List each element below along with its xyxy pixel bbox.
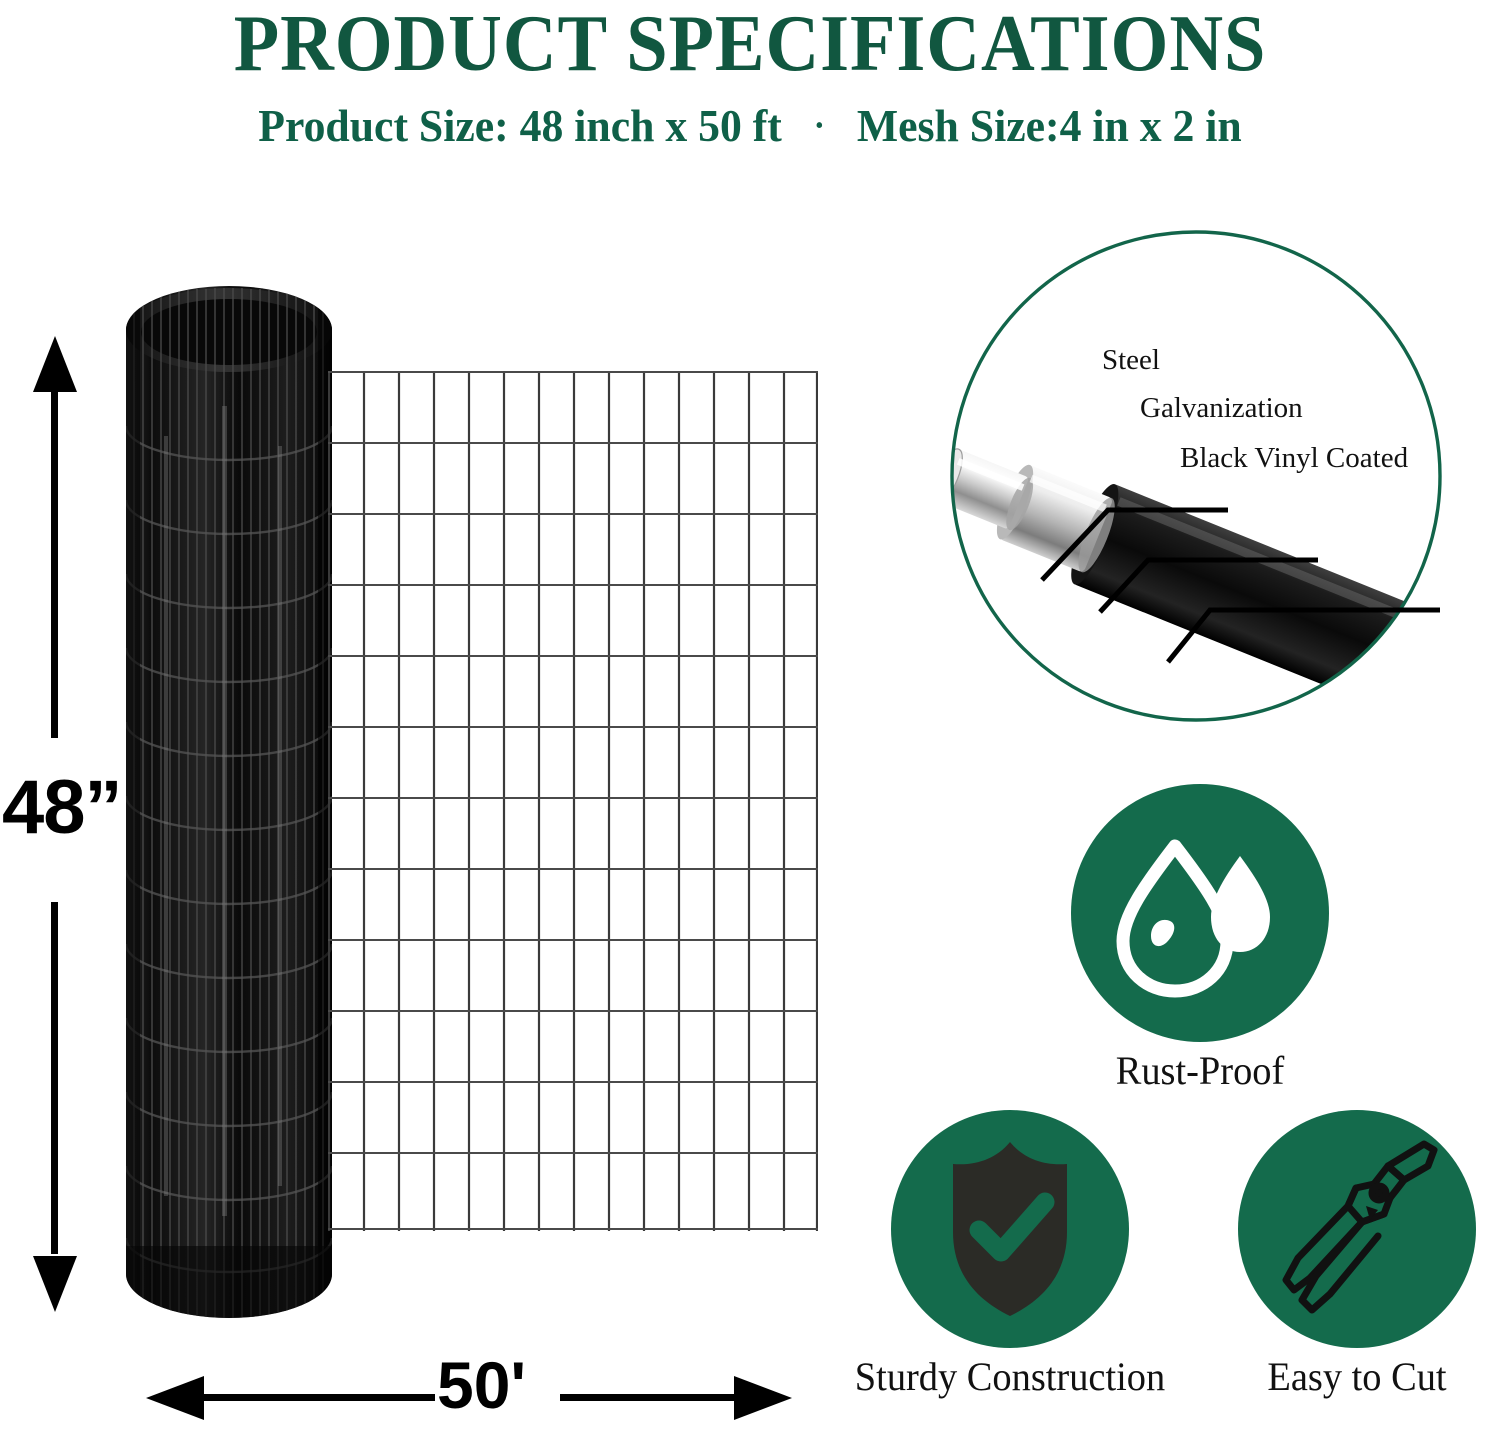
feature-disc [1238,1110,1476,1348]
feature-disc [891,1110,1129,1348]
water-drop-icon [1071,784,1329,1042]
pliers-icon [1238,1110,1476,1348]
wire-mesh-sheet [328,371,818,1231]
width-dimension-label: 50' [437,1352,526,1418]
header: PRODUCT SPECIFICATIONS Product Size: 48 … [0,0,1500,151]
feature-caption: Rust-Proof [1029,1048,1371,1094]
subtitle-separator: · [793,100,846,150]
feature-caption: Easy to Cut [1218,1354,1496,1400]
feature-disc [1071,784,1329,1042]
product-specification-infographic: PRODUCT SPECIFICATIONS Product Size: 48 … [0,0,1500,1433]
callout-label-steel: Steel [1102,344,1160,376]
product-size-text: Product Size: 48 inch x 50 ft [258,100,782,151]
feature-rust-proof: Rust-Proof [1022,784,1378,1094]
height-dimension-label: 48” [2,770,122,846]
callout-label-galvanization: Galvanization [1140,392,1303,424]
mesh-size-text: Mesh Size:4 in x 2 in [857,100,1242,151]
wire-roll-image [126,286,332,1318]
callout-label-black-vinyl-coated: Black Vinyl Coated [1180,442,1408,474]
feature-easy-to-cut: Easy to Cut [1212,1110,1500,1400]
shield-check-icon [891,1110,1129,1348]
page-title: PRODUCT SPECIFICATIONS [53,2,1448,86]
wire-construction-detail [948,228,1444,724]
feature-sturdy-construction: Sturdy Construction [820,1110,1200,1400]
feature-caption: Sturdy Construction [828,1354,1193,1400]
subtitle: Product Size: 48 inch x 50 ft · Mesh Siz… [38,100,1463,151]
